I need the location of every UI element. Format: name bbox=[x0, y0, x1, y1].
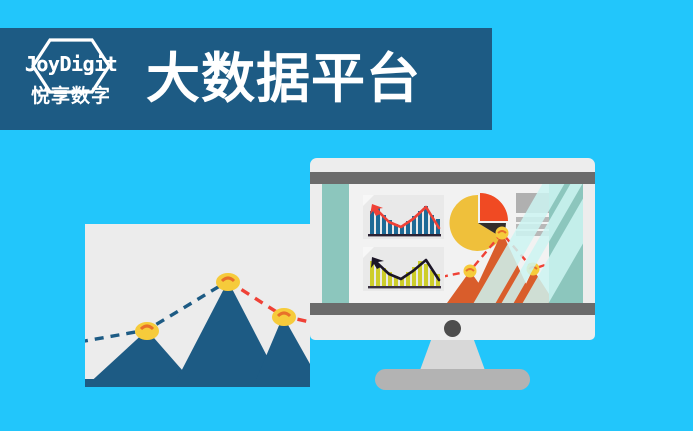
orange-node-1 bbox=[464, 265, 477, 278]
trend-node-2 bbox=[216, 273, 240, 291]
monitor-power-button[interactable] bbox=[444, 320, 461, 337]
blue-bar-chart-card[interactable] bbox=[363, 195, 444, 239]
monitor-bottom-bar bbox=[310, 303, 595, 315]
header-band: JoyDigit 悦享数字 大数据平台 bbox=[0, 28, 492, 130]
trend-node-3 bbox=[272, 308, 296, 326]
yellow-bar-chart-card[interactable] bbox=[363, 247, 444, 291]
illustration-canvas: JoyDigit 悦享数字 大数据平台 bbox=[0, 0, 693, 431]
trend-node-1 bbox=[135, 322, 159, 340]
blue-bar-chart bbox=[363, 195, 444, 239]
mountain-trend-chart bbox=[85, 224, 310, 387]
page-title: 大数据平台 bbox=[146, 52, 421, 106]
orange-node-2 bbox=[496, 227, 509, 240]
brand-logo: JoyDigit 悦享数字 bbox=[12, 33, 130, 125]
logo-subtitle: 悦享数字 bbox=[31, 87, 111, 106]
monitor-screen bbox=[322, 184, 583, 303]
screen-side-band-left bbox=[322, 184, 349, 303]
monitor-top-bar bbox=[310, 172, 595, 184]
logo-wordmark: JoyDigit bbox=[25, 54, 117, 74]
yellow-bar-chart bbox=[363, 247, 444, 291]
monitor-stand-base bbox=[375, 369, 530, 390]
mountain-trend-panel bbox=[85, 224, 310, 387]
mountain-baseline bbox=[85, 379, 310, 387]
desktop-monitor bbox=[310, 158, 595, 390]
